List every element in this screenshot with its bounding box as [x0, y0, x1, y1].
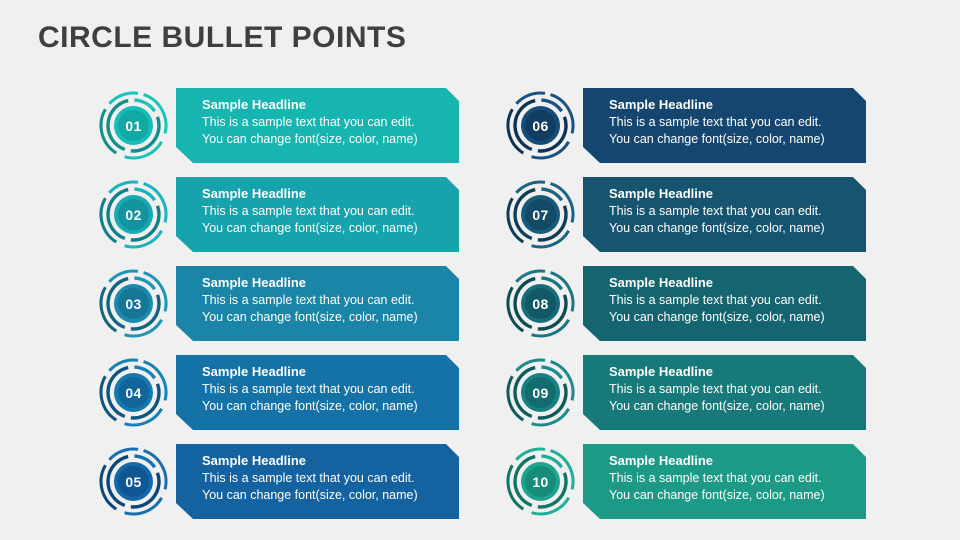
bullet-card[interactable]: Sample HeadlineThis is a sample text tha…: [176, 355, 459, 430]
card-headline: Sample Headline: [202, 274, 449, 291]
badge-inner-disc: [525, 199, 556, 230]
card-headline: Sample Headline: [609, 452, 856, 469]
badge-inner-disc: [525, 377, 556, 408]
bullet-column-left: Sample HeadlineThis is a sample text tha…: [96, 88, 476, 519]
card-headline: Sample Headline: [609, 363, 856, 380]
card-body-line-2: You can change font(size, color, name): [202, 131, 449, 148]
badge-inner-disc: [118, 199, 149, 230]
card-body-line-1: This is a sample text that you can edit.: [609, 470, 856, 487]
slide-canvas: CIRCLE BULLET POINTS Sample HeadlineThis…: [0, 0, 960, 540]
badge-inner-disc: [118, 288, 149, 319]
card-body-line-2: You can change font(size, color, name): [609, 220, 856, 237]
bullet-row: Sample HeadlineThis is a sample text tha…: [503, 444, 883, 519]
bullet-row: Sample HeadlineThis is a sample text tha…: [96, 266, 476, 341]
card-body-line-1: This is a sample text that you can edit.: [202, 381, 449, 398]
bullet-number-badge[interactable]: 05: [96, 444, 171, 519]
bullet-card[interactable]: Sample HeadlineThis is a sample text tha…: [176, 88, 459, 163]
bullet-number-badge[interactable]: 09: [503, 355, 578, 430]
bullet-number-badge[interactable]: 04: [96, 355, 171, 430]
card-body-line-1: This is a sample text that you can edit.: [202, 114, 449, 131]
badge-inner-disc: [118, 377, 149, 408]
card-body-line-1: This is a sample text that you can edit.: [202, 203, 449, 220]
bullet-row: Sample HeadlineThis is a sample text tha…: [96, 355, 476, 430]
bullet-row: Sample HeadlineThis is a sample text tha…: [96, 88, 476, 163]
badge-inner-disc: [525, 110, 556, 141]
card-body-line-1: This is a sample text that you can edit.: [202, 292, 449, 309]
bullet-number-badge[interactable]: 02: [96, 177, 171, 252]
page-title: CIRCLE BULLET POINTS: [38, 19, 406, 57]
bullet-row: Sample HeadlineThis is a sample text tha…: [96, 177, 476, 252]
card-body-line-2: You can change font(size, color, name): [202, 220, 449, 237]
bullet-row: Sample HeadlineThis is a sample text tha…: [503, 355, 883, 430]
card-body-line-2: You can change font(size, color, name): [202, 398, 449, 415]
card-body-line-1: This is a sample text that you can edit.: [609, 381, 856, 398]
bullet-card[interactable]: Sample HeadlineThis is a sample text tha…: [176, 444, 459, 519]
card-headline: Sample Headline: [202, 363, 449, 380]
bullet-card[interactable]: Sample HeadlineThis is a sample text tha…: [583, 355, 866, 430]
card-headline: Sample Headline: [609, 96, 856, 113]
bullet-row: Sample HeadlineThis is a sample text tha…: [503, 266, 883, 341]
card-body-line-2: You can change font(size, color, name): [609, 131, 856, 148]
card-headline: Sample Headline: [202, 185, 449, 202]
bullet-card[interactable]: Sample HeadlineThis is a sample text tha…: [583, 266, 866, 341]
bullet-number-badge[interactable]: 01: [96, 88, 171, 163]
card-body-line-1: This is a sample text that you can edit.: [202, 470, 449, 487]
bullet-number-badge[interactable]: 06: [503, 88, 578, 163]
bullet-row: Sample HeadlineThis is a sample text tha…: [503, 177, 883, 252]
card-headline: Sample Headline: [202, 96, 449, 113]
card-body-line-2: You can change font(size, color, name): [202, 309, 449, 326]
card-body-line-1: This is a sample text that you can edit.: [609, 114, 856, 131]
badge-inner-disc: [525, 288, 556, 319]
bullet-number-badge[interactable]: 10: [503, 444, 578, 519]
card-body-line-2: You can change font(size, color, name): [202, 487, 449, 504]
bullet-row: Sample HeadlineThis is a sample text tha…: [96, 444, 476, 519]
card-headline: Sample Headline: [609, 274, 856, 291]
card-body-line-1: This is a sample text that you can edit.: [609, 203, 856, 220]
badge-inner-disc: [118, 110, 149, 141]
card-body-line-2: You can change font(size, color, name): [609, 487, 856, 504]
badge-inner-disc: [118, 466, 149, 497]
card-body-line-1: This is a sample text that you can edit.: [609, 292, 856, 309]
bullet-number-badge[interactable]: 08: [503, 266, 578, 341]
bullet-row: Sample HeadlineThis is a sample text tha…: [503, 88, 883, 163]
bullet-card[interactable]: Sample HeadlineThis is a sample text tha…: [176, 177, 459, 252]
bullet-number-badge[interactable]: 03: [96, 266, 171, 341]
card-headline: Sample Headline: [609, 185, 856, 202]
card-headline: Sample Headline: [202, 452, 449, 469]
bullet-card[interactable]: Sample HeadlineThis is a sample text tha…: [176, 266, 459, 341]
bullet-card[interactable]: Sample HeadlineThis is a sample text tha…: [583, 177, 866, 252]
bullet-column-right: Sample HeadlineThis is a sample text tha…: [503, 88, 883, 519]
bullet-card[interactable]: Sample HeadlineThis is a sample text tha…: [583, 444, 866, 519]
card-body-line-2: You can change font(size, color, name): [609, 398, 856, 415]
bullet-number-badge[interactable]: 07: [503, 177, 578, 252]
card-body-line-2: You can change font(size, color, name): [609, 309, 856, 326]
badge-inner-disc: [525, 466, 556, 497]
bullet-card[interactable]: Sample HeadlineThis is a sample text tha…: [583, 88, 866, 163]
